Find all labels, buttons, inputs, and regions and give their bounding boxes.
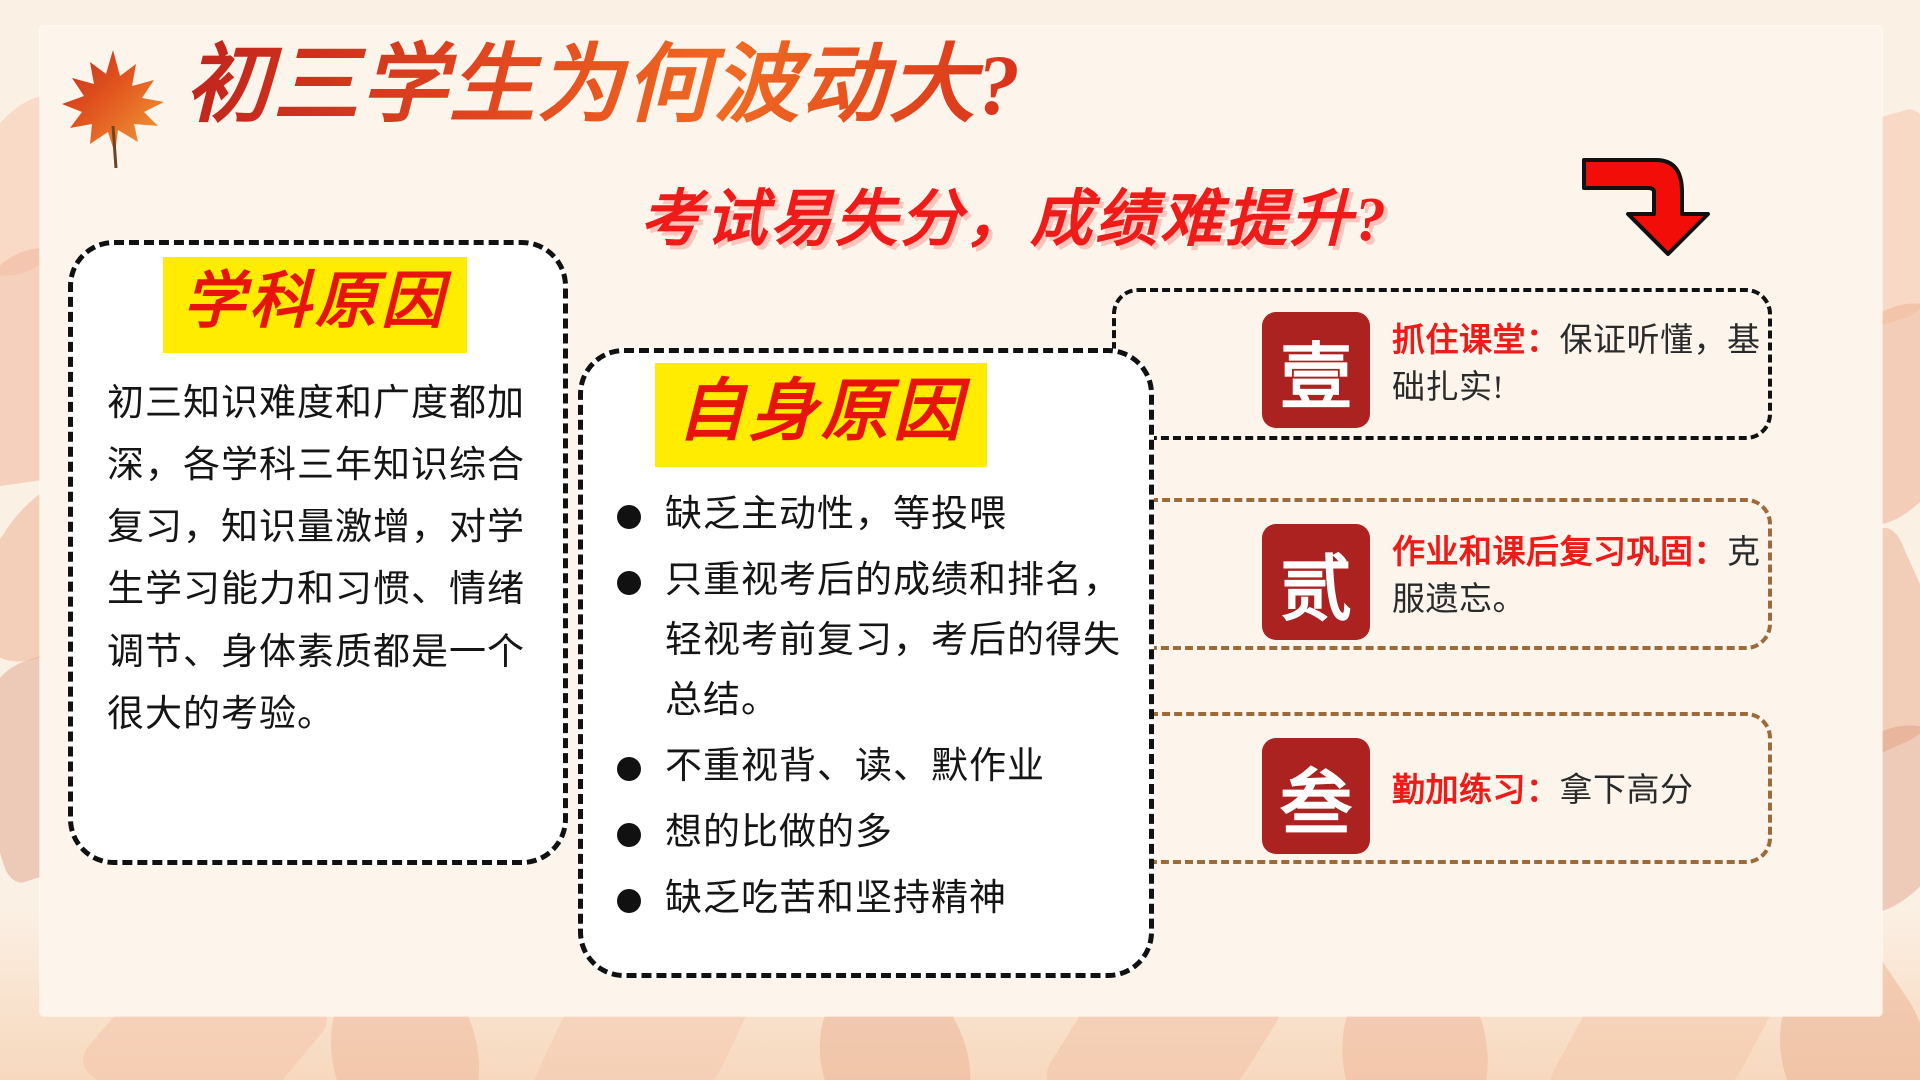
bullet-dot-icon xyxy=(617,823,641,847)
card-self-reasons: 自身原因 缺乏主动性，等投喂 只重视考后的成绩和排名，轻视考前复习，考后的得失总… xyxy=(578,348,1154,978)
bullet-dot-icon xyxy=(617,571,641,595)
bullet-dot-icon xyxy=(617,889,641,913)
card-subject-body: 初三知识难度和广度都加深，各学科三年知识综合复习，知识量激增，对学生学习能力和习… xyxy=(107,373,545,746)
step-lead-1: 抓住课堂： xyxy=(1392,323,1560,359)
list-item: 不重视背、读、默作业 xyxy=(609,737,1135,797)
list-item-label: 缺乏吃苦和坚持精神 xyxy=(665,878,1007,919)
list-item: 想的比做的多 xyxy=(609,803,1135,863)
card-subject-heading: 学科原因 xyxy=(163,257,467,353)
card-self-heading: 自身原因 xyxy=(655,363,987,467)
page-subtitle: 考试易失分，成绩难提升? xyxy=(640,168,1389,258)
step-text-1: 抓住课堂：保证听懂，基础扎实! xyxy=(1392,318,1782,412)
list-item: 只重视考后的成绩和排名，轻视考前复习，考后的得失总结。 xyxy=(609,551,1135,731)
step-badge-1: 壹 xyxy=(1262,312,1370,428)
maple-leaf-icon xyxy=(58,46,168,171)
card-subject-reasons: 学科原因 初三知识难度和广度都加深，各学科三年知识综合复习，知识量激增，对学生学… xyxy=(68,240,568,865)
list-item: 缺乏主动性，等投喂 xyxy=(609,485,1135,545)
step-lead-3: 勤加练习： xyxy=(1392,773,1560,809)
step-rest-3: 拿下高分 xyxy=(1560,773,1694,809)
step-badge-3: 叁 xyxy=(1262,738,1370,854)
step-text-3: 勤加练习：拿下高分 xyxy=(1392,768,1782,815)
bullet-dot-icon xyxy=(617,505,641,529)
list-item-label: 缺乏主动性，等投喂 xyxy=(665,494,1007,535)
step-badge-2: 贰 xyxy=(1262,524,1370,640)
list-item: 缺乏吃苦和坚持精神 xyxy=(609,869,1135,929)
page-title: 初三学生为何波动大? xyxy=(185,38,1022,133)
card-self-bullet-list: 缺乏主动性，等投喂 只重视考后的成绩和排名，轻视考前复习，考后的得失总结。 不重… xyxy=(609,485,1135,935)
list-item-label: 不重视背、读、默作业 xyxy=(665,746,1045,787)
step-lead-2: 作业和课后复习巩固： xyxy=(1392,535,1727,571)
slide-canvas: 初三学生为何波动大? 考试易失分，成绩难提升? 学科原因 初三知识难度和广度都加… xyxy=(0,0,1920,1080)
bent-down-arrow-icon xyxy=(1578,148,1728,258)
list-item-label: 只重视考后的成绩和排名，轻视考前复习，考后的得失总结。 xyxy=(665,560,1121,721)
list-item-label: 想的比做的多 xyxy=(665,812,893,853)
bullet-dot-icon xyxy=(617,757,641,781)
step-text-2: 作业和课后复习巩固：克服遗忘。 xyxy=(1392,530,1782,624)
